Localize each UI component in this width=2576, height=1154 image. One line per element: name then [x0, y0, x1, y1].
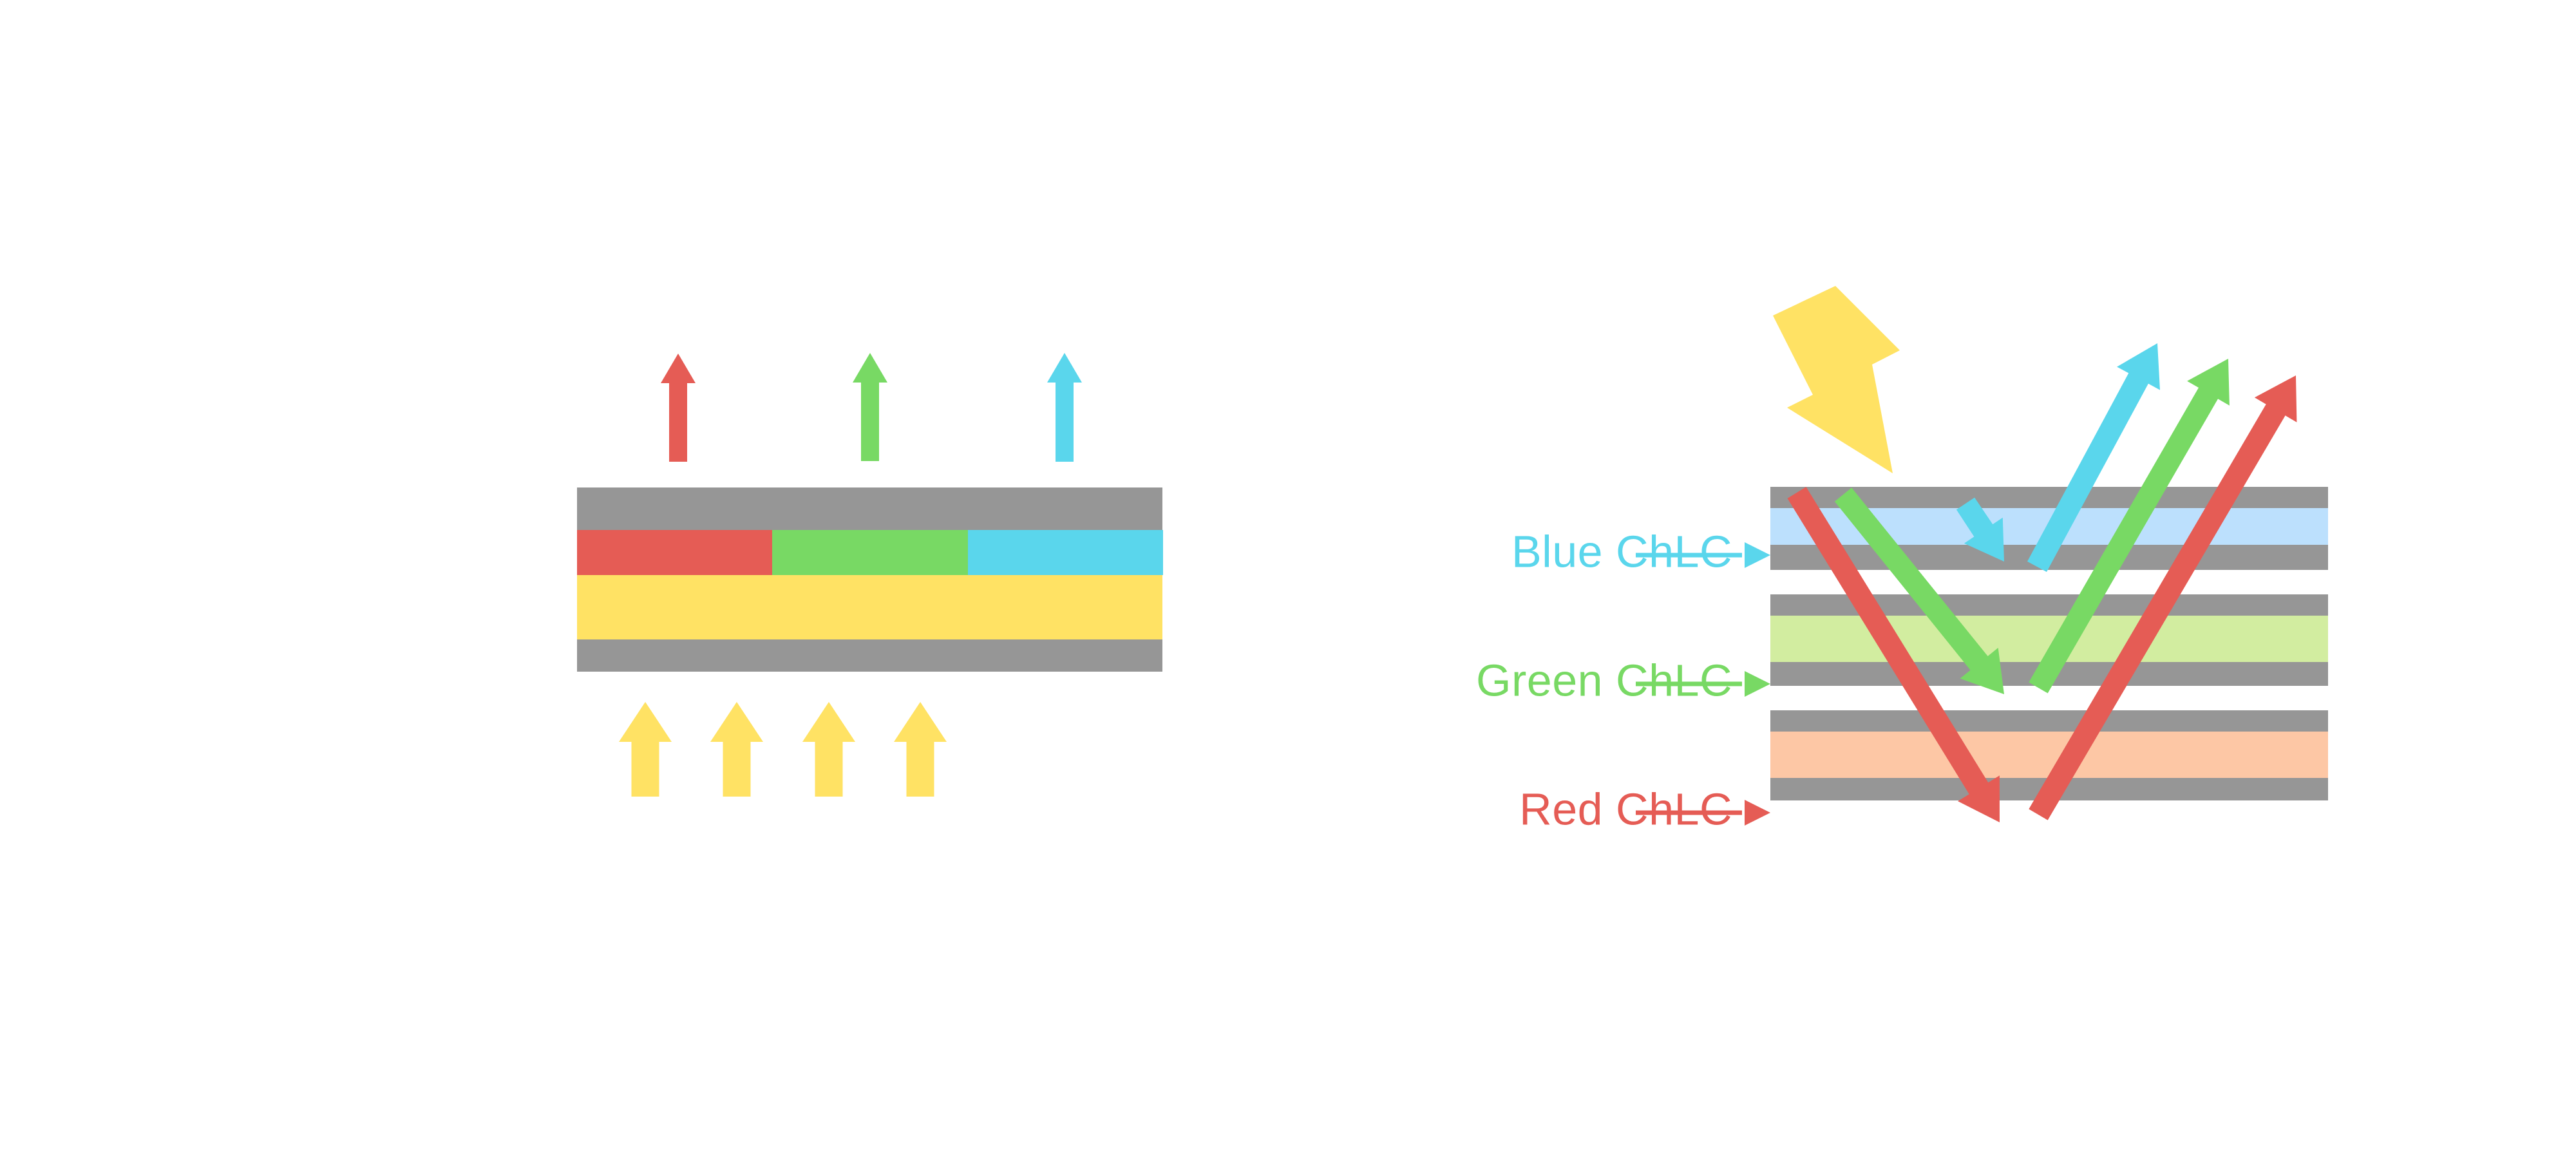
blue-emitted-arrow: [1047, 353, 1082, 462]
bottom-electrode: [577, 639, 1162, 672]
blue-chlc-label-arrowhead: [1745, 542, 1770, 568]
top-electrode: [577, 487, 1162, 530]
backlight-layer: [577, 575, 1162, 639]
green-filter: [772, 530, 968, 575]
red-chlc-layer: [1770, 732, 2328, 778]
backlight-arrow-1: [619, 702, 672, 797]
red-chlc-label-arrowhead: [1745, 800, 1770, 826]
gray-layer-5: [1770, 710, 2328, 732]
chlc-display-schematic: Blue ChLCGreen ChLCRed ChLC: [0, 0, 2576, 1154]
incident-white-light-arrow: [1773, 286, 1900, 473]
diagram-canvas: Blue ChLCGreen ChLCRed ChLC: [0, 0, 2576, 1154]
green-emitted-arrow: [853, 353, 887, 461]
backlight-arrow-2: [710, 702, 763, 797]
red-filter: [577, 530, 772, 575]
green-chlc-label: Green ChLC: [1476, 655, 1732, 705]
red-chlc-label: Red ChLC: [1519, 784, 1732, 834]
backlight-arrow-4: [894, 702, 947, 797]
green-chlc-label-arrowhead: [1745, 671, 1770, 697]
blue-chlc-label: Blue ChLC: [1511, 526, 1732, 576]
blue-filter: [968, 530, 1163, 575]
red-emitted-arrow: [661, 354, 696, 462]
backlight-arrow-3: [802, 702, 855, 797]
